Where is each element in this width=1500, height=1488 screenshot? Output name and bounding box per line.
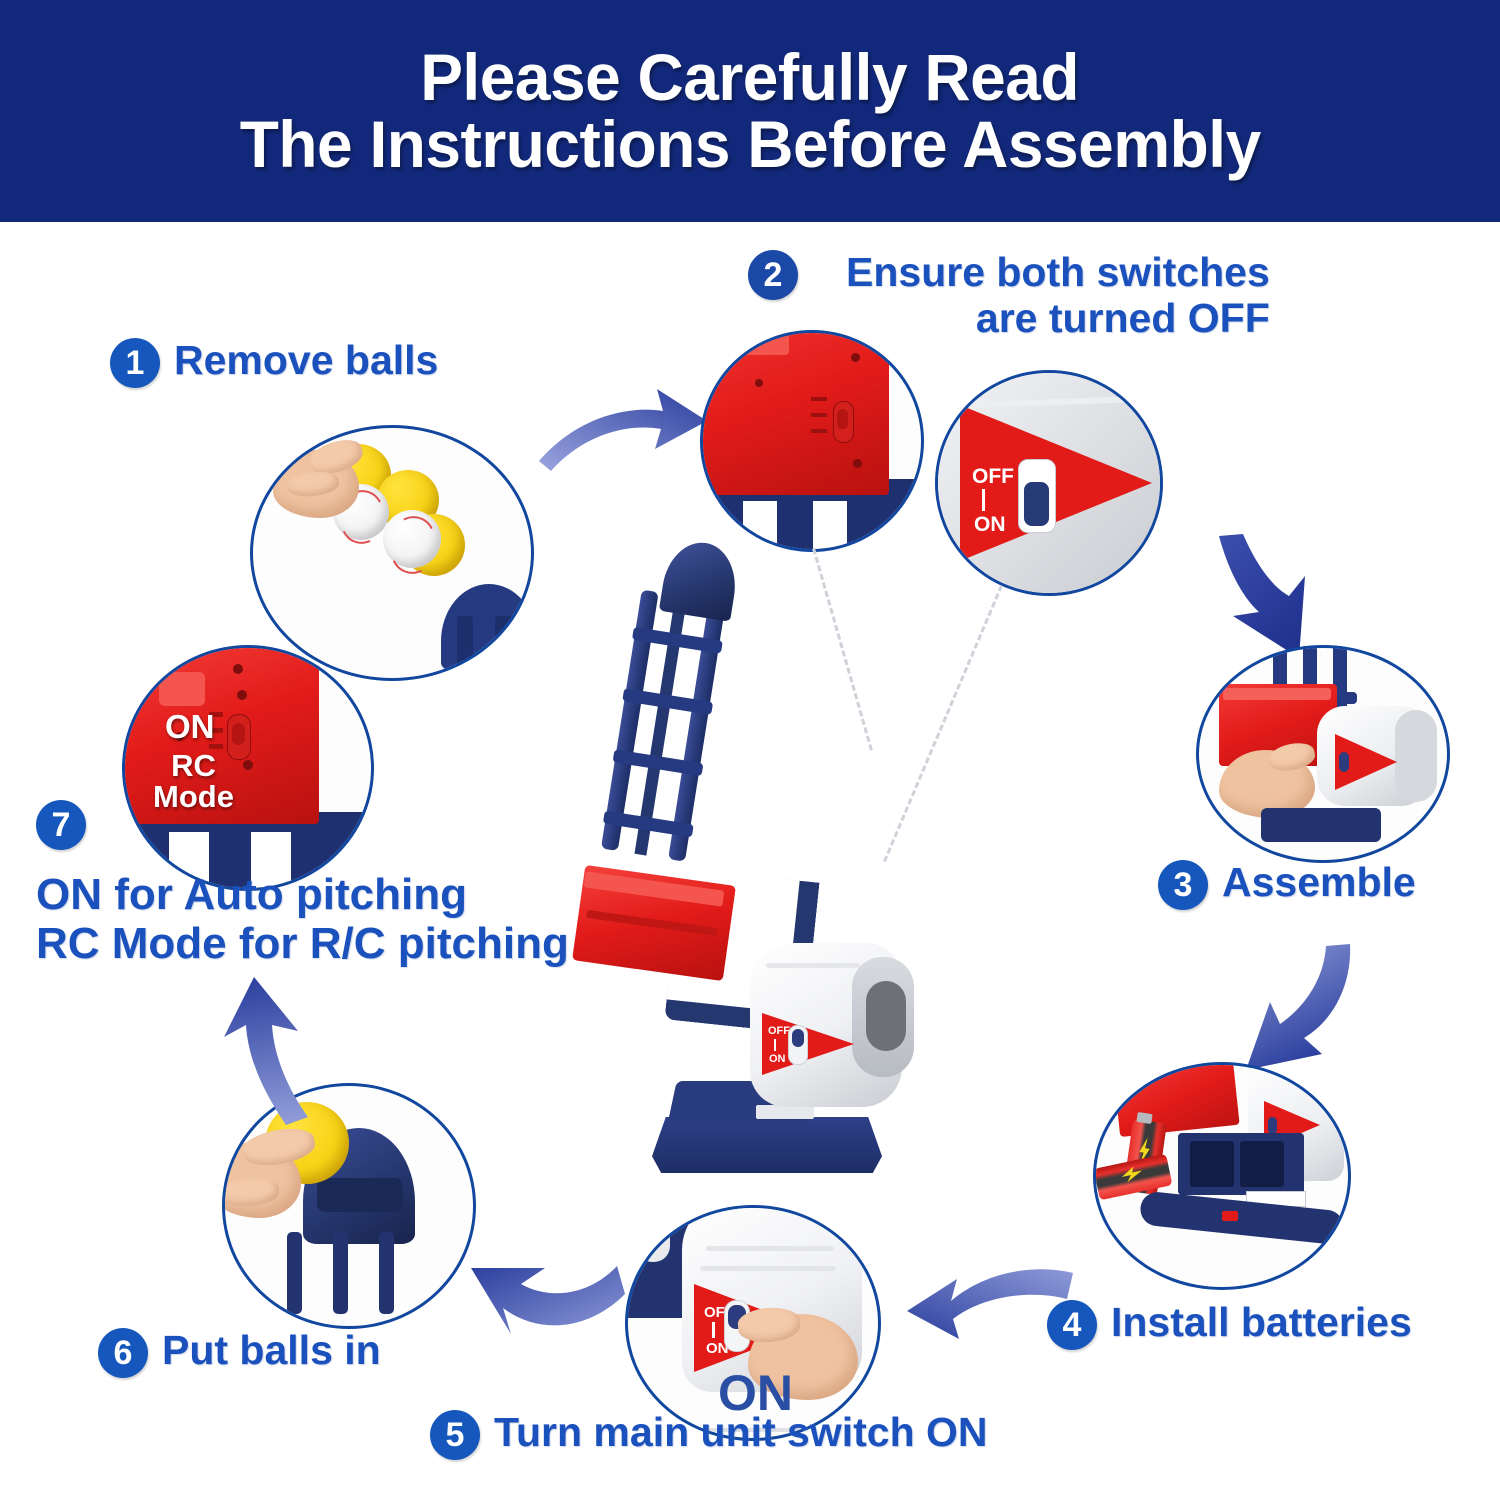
- switch-off-label: OFF: [972, 465, 1014, 489]
- photo-switch-red-module: [700, 330, 924, 552]
- step-1-badge: 1: [110, 338, 160, 388]
- step-1-text: Remove balls: [174, 338, 438, 384]
- step-5-label: 5 Turn main unit switch ON: [430, 1410, 988, 1460]
- step-1-label: 1 Remove balls: [110, 338, 438, 388]
- product-power-switch[interactable]: [788, 1025, 808, 1065]
- photo-main-switch-on: OFF ON ON: [625, 1205, 881, 1441]
- step-6-text: Put balls in: [162, 1328, 381, 1374]
- label-on-overlay: ON: [165, 710, 215, 743]
- label-rc-mode-overlay: RC Mode: [153, 750, 234, 812]
- ball-feed-tower: [599, 550, 761, 864]
- step-2-badge: 2: [748, 250, 798, 300]
- photo-on-rc-mode: ON RC Mode: [122, 645, 374, 891]
- header-title-line-2: The Instructions Before Assembly: [240, 111, 1261, 178]
- step-4-label: 4 Install batteries: [1047, 1300, 1412, 1350]
- step-7-label: 7: [36, 800, 86, 850]
- curved-arrow-up-left-icon: [455, 1228, 635, 1363]
- step-3-badge: 3: [1158, 860, 1208, 910]
- header-banner: Please Carefully Read The Instructions B…: [0, 0, 1500, 222]
- step-7-text: ON for Auto pitching RC Mode for R/C pit…: [36, 870, 569, 969]
- step-4-text: Install batteries: [1111, 1300, 1412, 1346]
- curved-arrow-left-icon: [905, 1255, 1080, 1370]
- step-3-text: Assemble: [1222, 860, 1416, 906]
- photo-switch-grey-plate: OFF ON: [935, 370, 1163, 596]
- step-7-badge: 7: [36, 800, 86, 850]
- product-pitching-machine: OFF ON: [560, 545, 960, 1205]
- step-6-label: 6 Put balls in: [98, 1328, 381, 1378]
- product-switch-on-label: ON: [769, 1053, 786, 1065]
- photo-install-batteries: [1093, 1062, 1351, 1290]
- step-5-text: Turn main unit switch ON: [494, 1410, 988, 1456]
- photo-assemble: [1196, 645, 1450, 863]
- product-base: [652, 1117, 882, 1173]
- step-3-label: 3 Assemble: [1158, 860, 1416, 910]
- step-2-label: 2 Ensure both switches are turned OFF: [748, 250, 1270, 342]
- step-5-badge: 5: [430, 1410, 480, 1460]
- product-switch-off-label: OFF: [768, 1025, 790, 1037]
- curved-arrow-right-icon: [535, 375, 725, 495]
- header-title-line-1: Please Carefully Read: [421, 44, 1080, 111]
- step-6-badge: 6: [98, 1328, 148, 1378]
- power-switch[interactable]: [1018, 459, 1056, 533]
- photo-remove-balls: [250, 425, 534, 681]
- step-2-text: Ensure both switches are turned OFF: [846, 250, 1270, 342]
- switch-on-label: ON: [974, 513, 1006, 537]
- curved-arrow-up-icon: [200, 975, 330, 1135]
